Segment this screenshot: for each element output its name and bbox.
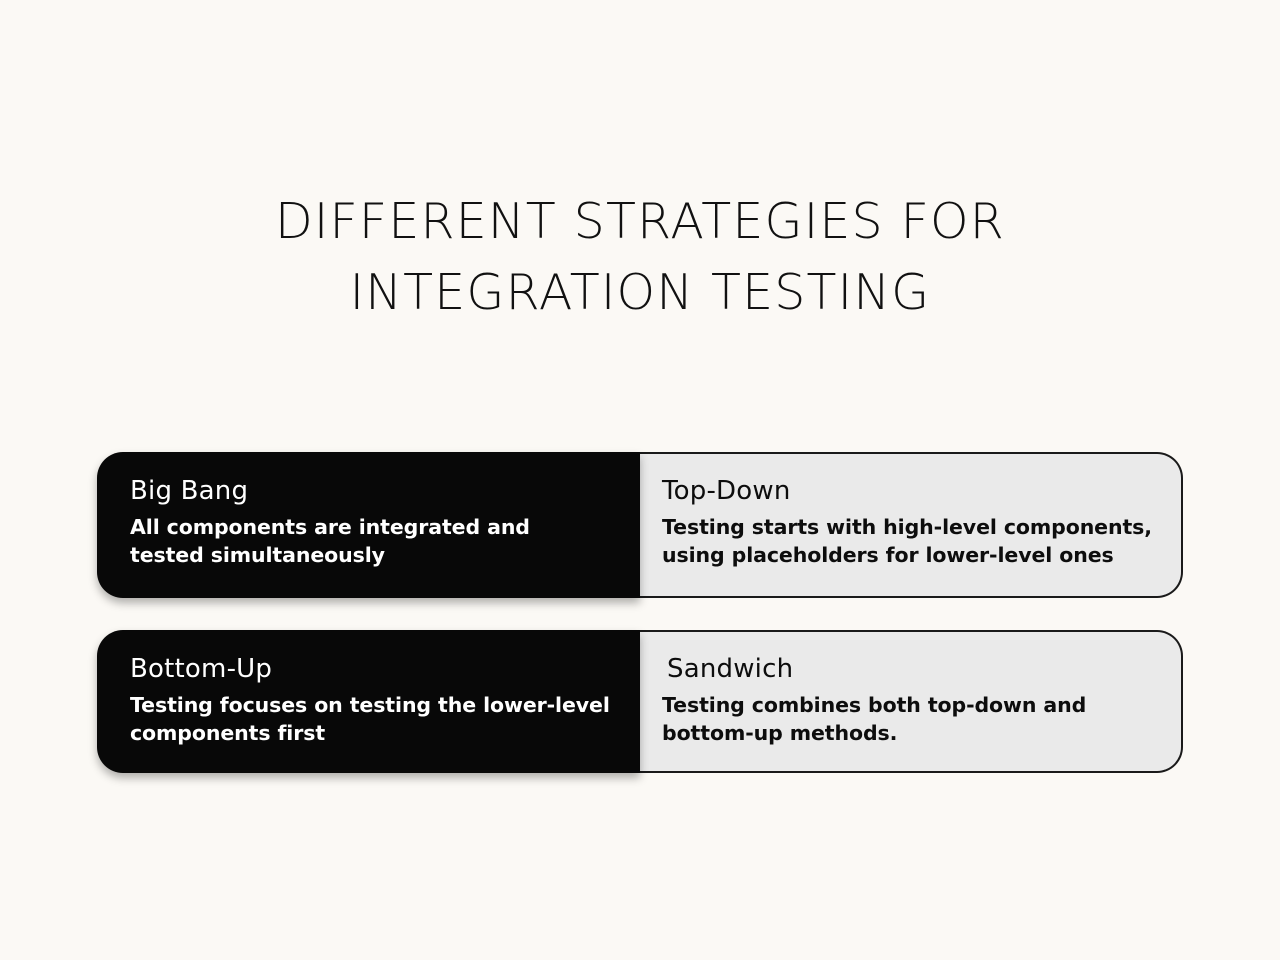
- page-title-line-1: DIFFERENT STRATEGIES FOR: [0, 186, 1280, 257]
- strategy-row-2: Bottom-Up Testing focuses on testing the…: [97, 630, 1183, 773]
- strategy-heading-bottom-up: Bottom-Up: [130, 654, 610, 685]
- page-title-line-2: INTEGRATION TESTING: [0, 257, 1280, 328]
- strategy-card-bottom-up[interactable]: Bottom-Up Testing focuses on testing the…: [97, 630, 640, 773]
- strategy-heading-big-bang: Big Bang: [130, 476, 610, 507]
- strategy-heading-sandwich: Sandwich: [662, 654, 1157, 685]
- strategy-body-bottom-up: Testing focuses on testing the lower-lev…: [130, 692, 610, 747]
- page-title: DIFFERENT STRATEGIES FOR INTEGRATION TES…: [0, 186, 1280, 328]
- strategy-card-top-down[interactable]: Top-Down Testing starts with high-level …: [640, 452, 1183, 598]
- slide-canvas: DIFFERENT STRATEGIES FOR INTEGRATION TES…: [0, 0, 1280, 960]
- strategy-heading-top-down: Top-Down: [662, 476, 1157, 507]
- strategy-body-sandwich: Testing combines both top-down and botto…: [662, 692, 1157, 747]
- strategy-card-sandwich[interactable]: Sandwich Testing combines both top-down …: [640, 630, 1183, 773]
- strategy-body-top-down: Testing starts with high-level component…: [662, 514, 1157, 569]
- strategy-card-big-bang[interactable]: Big Bang All components are integrated a…: [97, 452, 640, 598]
- strategy-row-1: Big Bang All components are integrated a…: [97, 452, 1183, 598]
- strategy-body-big-bang: All components are integrated and tested…: [130, 514, 610, 569]
